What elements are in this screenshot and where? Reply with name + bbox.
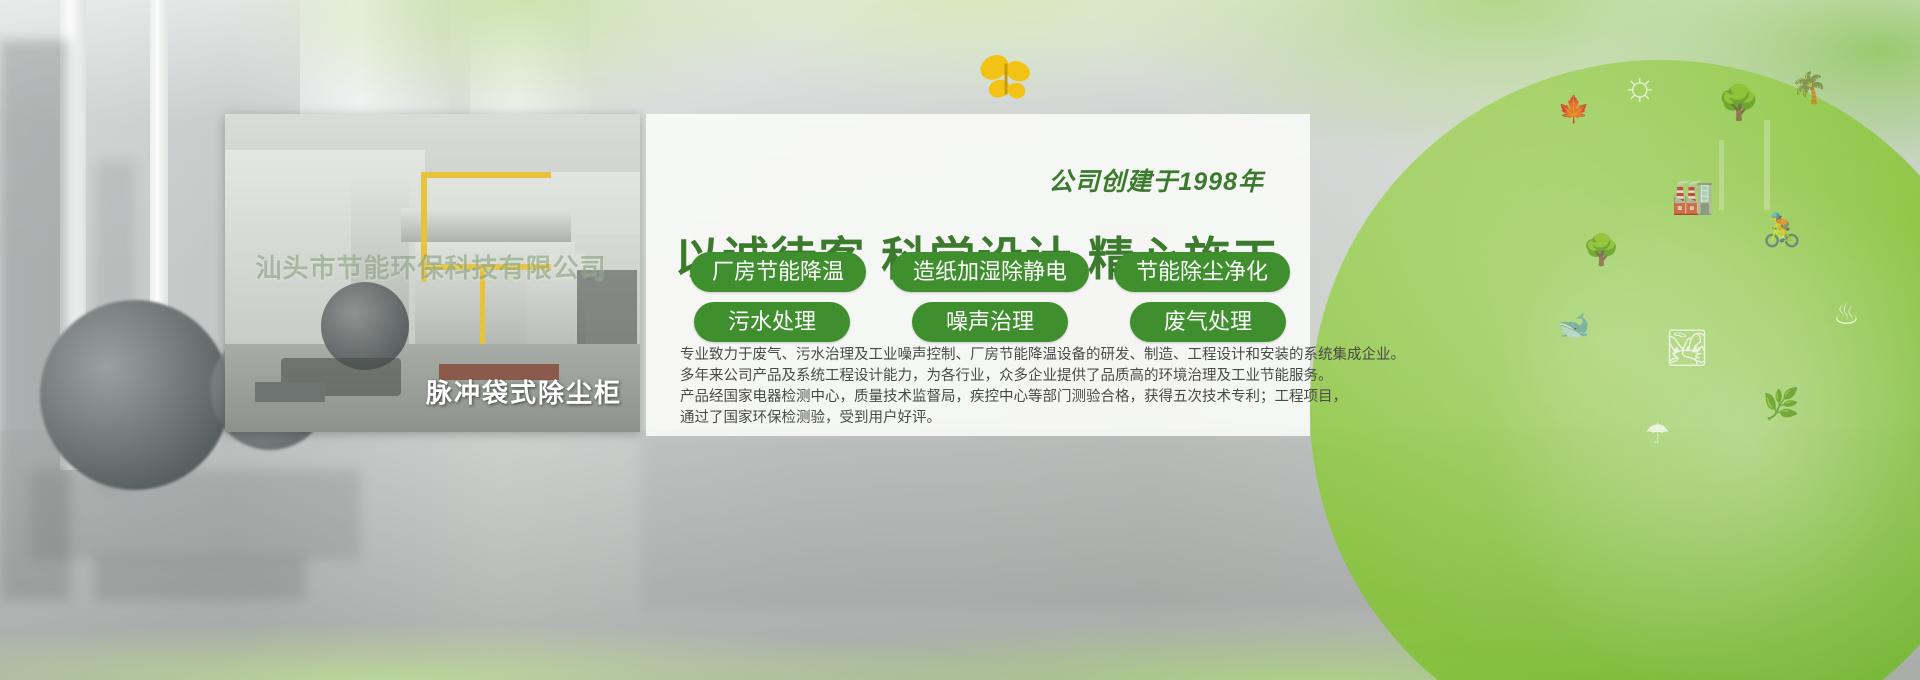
description-line: 多年来公司产品及系统工程设计能力，为各行业，众多企业提供了品质高的环境治理及工业… [680, 366, 1320, 387]
service-tag-row-2: 污水处理 噪声治理 废气处理 [690, 302, 1290, 342]
service-tag[interactable]: 废气处理 [1130, 302, 1286, 342]
service-tag[interactable]: 污水处理 [694, 302, 850, 342]
promo-banner: ☼ 🌳 🌴 🍁 🏭 🚴 🌳 ♨ 🏞 🐋 🌿 ☂ [0, 0, 1920, 680]
service-tag[interactable]: 厂房节能降温 [690, 252, 866, 292]
established-line: 公司创建于1998年 [646, 162, 1310, 198]
description-line: 产品经国家电器检测中心，质量技术监督局，疾控中心等部门测验合格，获得五次技术专利… [680, 387, 1320, 408]
butterfly-icon [975, 48, 1037, 110]
service-tag-group: 厂房节能降温 造纸加湿除静电 节能除尘净化 污水处理 噪声治理 废气处理 [690, 252, 1290, 352]
photo-caption: 脉冲袋式除尘柜 [426, 373, 622, 410]
service-tag[interactable]: 造纸加湿除静电 [891, 252, 1089, 292]
company-description: 专业致力于废气、污水治理及工业噪声控制、厂房节能降温设备的研发、制造、工程设计和… [680, 345, 1320, 429]
service-tag[interactable]: 噪声治理 [912, 302, 1068, 342]
service-tag-row-1: 厂房节能降温 造纸加湿除静电 节能除尘净化 [690, 252, 1290, 292]
project-photo-card: 脉冲袋式除尘柜 [225, 114, 640, 432]
description-line: 通过了国家环保检测验，受到用户好评。 [680, 408, 1320, 429]
service-tag[interactable]: 节能除尘净化 [1114, 252, 1290, 292]
description-line: 专业致力于废气、污水治理及工业噪声控制、厂房节能降温设备的研发、制造、工程设计和… [680, 345, 1320, 366]
